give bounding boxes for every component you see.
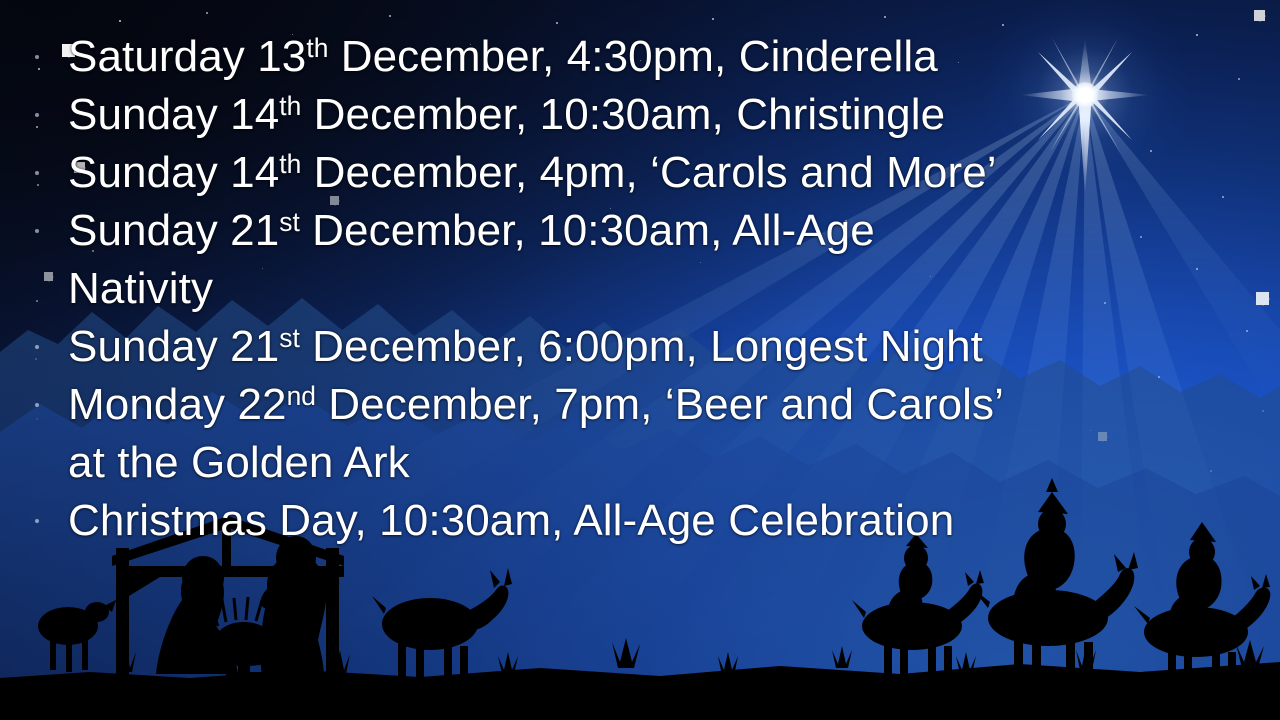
bullet-icon <box>35 113 39 117</box>
line-text: December, 10:30am, All-Age <box>300 206 875 255</box>
line-text: Saturday 13 <box>68 32 306 81</box>
bullet-icon <box>35 519 39 523</box>
service-christingle: Sunday 14th December, 10:30am, Christing… <box>0 86 1280 144</box>
bullet-icon <box>35 55 39 59</box>
line-text: December, 4:30pm, Cinderella <box>328 32 937 81</box>
service-all-age-nativity: Sunday 21st December, 10:30am, All-Age <box>0 202 1280 260</box>
service-christmas-day: Christmas Day, 10:30am, All-Age Celebrat… <box>0 492 1280 550</box>
line-text: December, 10:30am, Christingle <box>301 90 945 139</box>
service-beer-and-carols-wrap: at the Golden Ark <box>0 434 1280 492</box>
service-schedule-list: Saturday 13th December, 4:30pm, Cinderel… <box>0 28 1280 550</box>
line-text: Nativity <box>68 264 213 313</box>
line-text: at the Golden Ark <box>68 438 410 487</box>
service-beer-and-carols: Monday 22nd December, 7pm, ‘Beer and Car… <box>0 376 1280 434</box>
line-text: December, 4pm, ‘Carols and More’ <box>301 148 996 197</box>
bullet-icon <box>35 345 39 349</box>
line-text: Sunday 14 <box>68 148 279 197</box>
service-carols-and-more: Sunday 14th December, 4pm, ‘Carols and M… <box>0 144 1280 202</box>
service-cinderella: Saturday 13th December, 4:30pm, Cinderel… <box>0 28 1280 86</box>
service-longest-night: Sunday 21st December, 6:00pm, Longest Ni… <box>0 318 1280 376</box>
line-text: Sunday 14 <box>68 90 279 139</box>
ordinal-suffix: st <box>279 323 300 353</box>
line-text: Christmas Day, 10:30am, All-Age Celebrat… <box>68 496 954 545</box>
ordinal-suffix: th <box>279 91 301 121</box>
bullet-icon <box>35 229 39 233</box>
ordinal-suffix: nd <box>287 381 316 411</box>
service-all-age-nativity-wrap: Nativity <box>0 260 1280 318</box>
ordinal-suffix: th <box>279 149 301 179</box>
line-text: Monday 22 <box>68 380 287 429</box>
line-text: December, 7pm, ‘Beer and Carols’ <box>316 380 1004 429</box>
bullet-icon <box>35 403 39 407</box>
ordinal-suffix: st <box>279 207 300 237</box>
line-text: Sunday 21 <box>68 322 279 371</box>
ordinal-suffix: th <box>306 33 328 63</box>
christmas-services-slide: Saturday 13th December, 4:30pm, Cinderel… <box>0 0 1280 720</box>
line-text: Sunday 21 <box>68 206 279 255</box>
line-text: December, 6:00pm, Longest Night <box>300 322 983 371</box>
bullet-icon <box>35 171 39 175</box>
